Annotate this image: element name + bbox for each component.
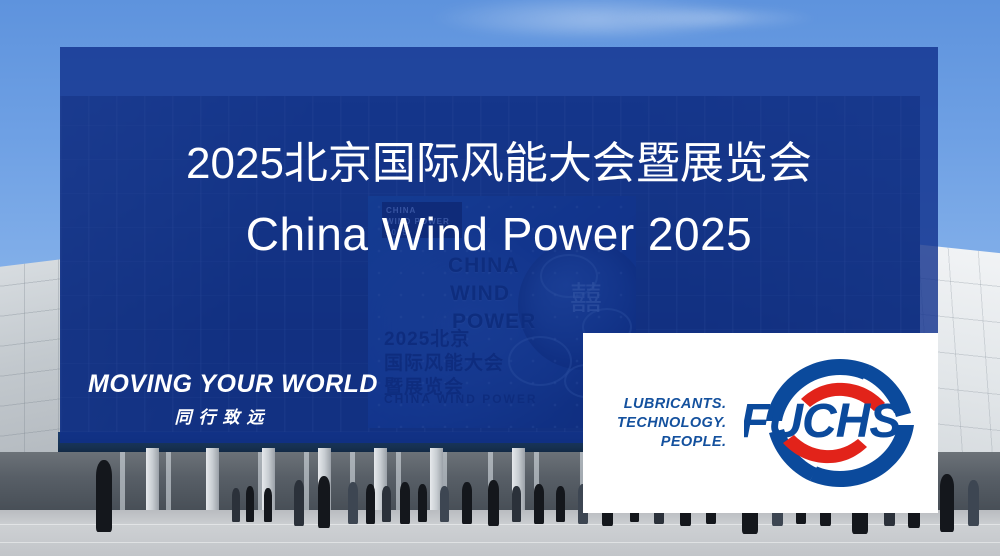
fuchs-tagline-line2: TECHNOLOGY. bbox=[617, 414, 726, 433]
fuchs-tagline: LUBRICANTS. TECHNOLOGY. PEOPLE. bbox=[617, 395, 726, 452]
crowd-person bbox=[348, 482, 358, 524]
plaza-ground bbox=[0, 510, 1000, 556]
crowd-person bbox=[294, 480, 304, 526]
crowd-person bbox=[318, 476, 330, 528]
crowd-person bbox=[246, 486, 254, 522]
crowd-person bbox=[96, 460, 112, 532]
crowd-person bbox=[940, 474, 954, 532]
crowd-person bbox=[400, 482, 410, 524]
slogan-english: MOVING YOUR WORLD bbox=[88, 370, 350, 399]
fuchs-wordmark-text: FUCHS bbox=[744, 395, 901, 448]
crowd-person bbox=[512, 486, 521, 522]
slogan-chinese: 同行致远 bbox=[88, 403, 350, 428]
fuchs-emblem-icon: FUCHS bbox=[744, 353, 924, 493]
crowd-person bbox=[418, 484, 427, 522]
fuchs-logo-panel: LUBRICANTS. TECHNOLOGY. PEOPLE. bbox=[583, 333, 938, 513]
crowd-person bbox=[462, 482, 472, 524]
crowd-person bbox=[440, 486, 449, 522]
plaza-paving-seam bbox=[0, 524, 1000, 525]
page-title-chinese: 2025北京国际风能大会暨展览会 bbox=[60, 138, 938, 190]
crowd-person bbox=[968, 480, 979, 526]
page-title-english: China Wind Power 2025 bbox=[60, 207, 938, 261]
slogan-block: MOVING YOUR WORLD 同行致远 bbox=[88, 370, 350, 428]
crowd-person bbox=[534, 484, 544, 524]
crowd-person bbox=[556, 486, 565, 522]
fuchs-logo-inner: LUBRICANTS. TECHNOLOGY. PEOPLE. bbox=[617, 353, 924, 493]
event-banner-image: CHINA WIND POWER 2025 囍 CHINA WIND POWER… bbox=[0, 0, 1000, 556]
fuchs-tagline-line3: PEOPLE. bbox=[617, 433, 726, 452]
crowd-person bbox=[382, 486, 391, 522]
fuchs-wordmark: FUCHS bbox=[744, 493, 745, 494]
crowd-person bbox=[488, 480, 499, 526]
crowd-person bbox=[232, 488, 240, 522]
crowd-person bbox=[264, 488, 272, 522]
plaza-paving-seam bbox=[0, 542, 1000, 543]
fuchs-tagline-line1: LUBRICANTS. bbox=[617, 395, 726, 414]
fuchs-logo-mark: FUCHS FUCHS bbox=[744, 353, 924, 493]
crowd-person bbox=[366, 484, 375, 524]
